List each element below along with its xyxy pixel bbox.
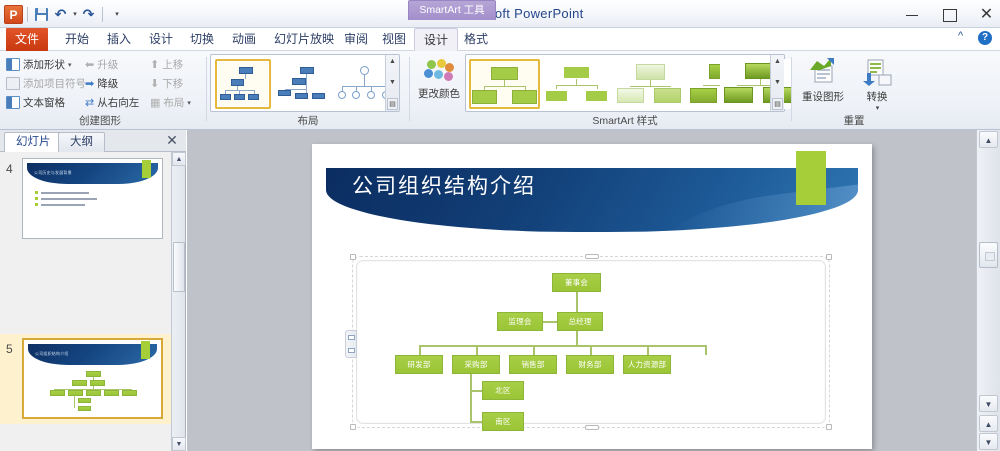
styles-scroll-up-icon[interactable]: ▲ [774, 56, 781, 68]
tab-smartart-format[interactable]: 格式 [455, 28, 497, 51]
thumbnail-banner: 公司组织结构介绍 [28, 344, 157, 365]
group-smartart-styles: 更改颜色 [413, 51, 788, 130]
close-panel-icon[interactable]: ✕ [164, 133, 180, 149]
change-colors-button[interactable]: 更改颜色 [413, 55, 465, 101]
cmd-move-up[interactable]: ⬆ 上移 [150, 57, 183, 72]
scrollbar-thumb[interactable] [979, 242, 998, 268]
gallery-scroll-up-icon[interactable]: ▲ [389, 56, 396, 68]
text-pane-arrow-icon-2 [348, 348, 355, 353]
slide-editing-area[interactable]: 公司组织结构介绍 董事会 监理会 总经理 [187, 130, 976, 451]
add-bullet-icon [6, 77, 20, 90]
previous-slide-button[interactable]: ▲ [979, 415, 998, 432]
orgchart-node-south[interactable]: 南区 [482, 412, 524, 431]
promote-icon: ⬅ [85, 58, 94, 71]
connector-gm-down [576, 331, 578, 345]
layout-thumb-circle-picture-hierarchy[interactable] [335, 59, 391, 109]
connector-supervisory [543, 321, 557, 323]
close-button[interactable]: ✕ [979, 7, 994, 22]
reset-graphic-icon [807, 57, 839, 87]
ribbon-help-area: ? [956, 31, 992, 45]
demote-icon: ➡ [85, 77, 94, 90]
tab-design[interactable]: 设计 [140, 28, 182, 51]
orgchart-node-hr[interactable]: 人力资源部 [623, 355, 671, 374]
cmd-layout[interactable]: ▦ 布局 ▾ [150, 95, 191, 110]
slide-accent-rectangle [796, 151, 826, 205]
orgchart-node-north[interactable]: 北区 [482, 381, 524, 400]
thumbnail-number: 5 [6, 342, 13, 356]
orgchart-node-supervisory[interactable]: 监理会 [497, 312, 543, 331]
group-create-graphic: 添加形状 ▾ 添加项目符号 文本窗格 ⬅ 升级 ➡ 降级 ⇄ 从右向左 [0, 51, 200, 130]
thumbnail-title: 公司历史与发展背景 [34, 170, 72, 176]
layouts-gallery[interactable]: ▲ ▼ ▤ [210, 54, 400, 112]
tab-smartart-design[interactable]: 设计 [414, 28, 458, 51]
current-slide[interactable]: 公司组织结构介绍 董事会 监理会 总经理 [312, 144, 872, 449]
cmd-right-to-left[interactable]: ⇄ 从右向左 [85, 95, 139, 110]
connector-purchasing-down [470, 374, 472, 422]
layout-thumb-name-and-title[interactable] [275, 59, 331, 109]
smartart-tools-banner: SmartArt 工具 [408, 0, 496, 20]
connector-drop-5 [647, 345, 649, 355]
orgchart-node-purchasing[interactable]: 采购部 [452, 355, 500, 374]
thumbnail-slide-5[interactable]: 公司组织结构介绍 [22, 338, 163, 419]
thumbnail-list[interactable]: 4 公司历史与发展背景 5 [0, 152, 172, 451]
text-pane-arrow-icon [348, 335, 355, 340]
thumbnail-banner: 公司历史与发展背景 [27, 163, 158, 184]
styles-scroll-down-icon[interactable]: ▼ [774, 77, 781, 89]
tab-review[interactable]: 审阅 [335, 28, 377, 51]
minimize-button[interactable] [905, 7, 920, 22]
tab-slides[interactable]: 幻灯片 [4, 132, 63, 152]
group-label-layouts: 布局 [210, 113, 406, 128]
slide-title-text[interactable]: 公司组织结构介绍 [352, 170, 536, 200]
help-icon[interactable]: ? [978, 31, 992, 45]
tab-view[interactable]: 视图 [373, 28, 415, 51]
styles-gallery-scrollbar[interactable]: ▲ ▼ ▤ [770, 55, 784, 111]
scroll-up-button[interactable]: ▲ [979, 131, 998, 148]
right-to-left-icon: ⇄ [85, 96, 94, 109]
powerpoint-window: P ↶ ▾ ↷ ▾ PPT - Microsoft PowerPoint ✕ S… [0, 0, 1000, 451]
thumbnail-accent-icon [142, 160, 151, 178]
ribbon: 添加形状 ▾ 添加项目符号 文本窗格 ⬅ 升级 ➡ 降级 ⇄ 从右向左 [0, 51, 1000, 130]
thumbnail-number: 4 [6, 162, 13, 176]
cmd-add-shape[interactable]: 添加形状 ▾ [6, 57, 72, 72]
convert-caret-icon[interactable]: ▾ [852, 104, 903, 112]
connector-drop-3 [533, 345, 535, 355]
cmd-text-pane[interactable]: 文本窗格 [6, 95, 65, 110]
reset-graphic-button[interactable]: 重设图形 [797, 55, 849, 104]
slide-thumbnail-panel: 幻灯片 大纲 ✕ 4 公司历史与发展背景 [0, 130, 186, 451]
resize-handle-nw[interactable] [350, 254, 356, 260]
styles-more-icon[interactable]: ▤ [772, 98, 783, 110]
convert-label: 转换 [851, 89, 903, 104]
gallery-more-icon[interactable]: ▤ [387, 98, 398, 110]
group-reset: 重设图形 转换 ▾ 重置 [795, 51, 913, 130]
style-thumb-white-outline[interactable] [542, 59, 613, 109]
thumbnail-accent-icon [141, 341, 150, 359]
cmd-demote[interactable]: ➡ 降级 [85, 76, 118, 91]
connector-board-down [576, 292, 578, 312]
thumbnail-item[interactable]: 4 公司历史与发展背景 [0, 154, 172, 244]
window-controls: ✕ [905, 0, 994, 28]
cmd-promote[interactable]: ⬅ 升级 [85, 57, 118, 72]
add-shape-caret-icon[interactable]: ▾ [68, 61, 72, 69]
maximize-button[interactable] [942, 7, 957, 22]
group-separator-2 [409, 57, 410, 121]
tab-outline[interactable]: 大纲 [58, 132, 105, 152]
scroll-down-button[interactable]: ▼ [979, 395, 998, 412]
thumbnail-bullets [35, 191, 97, 209]
panel-scroll-thumb[interactable] [173, 242, 185, 292]
cmd-add-bullet[interactable]: 添加项目符号 [6, 76, 86, 91]
orgchart-node-board[interactable]: 董事会 [552, 273, 601, 292]
text-pane-icon [6, 96, 20, 109]
text-pane-toggle[interactable] [345, 330, 357, 358]
group-label-create-graphic: 创建图形 [0, 113, 200, 128]
tab-animations[interactable]: 动画 [223, 28, 265, 51]
layouts-gallery-scrollbar[interactable]: ▲ ▼ ▤ [385, 55, 399, 111]
thumbnail-item-selected[interactable]: 5 公司组织结构介绍 [0, 334, 172, 424]
cmd-move-down[interactable]: ⬇ 下移 [150, 76, 183, 91]
tab-transitions[interactable]: 切换 [181, 28, 223, 51]
orgchart-node-finance[interactable]: 财务部 [566, 355, 614, 374]
thumbnail-slide-4[interactable]: 公司历史与发展背景 [22, 158, 163, 239]
tab-insert[interactable]: 插入 [98, 28, 140, 51]
orgchart-node-rnd[interactable]: 研发部 [395, 355, 443, 374]
smartart-styles-gallery[interactable]: ▲ ▼ ▤ [465, 54, 785, 112]
resize-handle-sw[interactable] [350, 424, 356, 430]
group-label-smartart-styles: SmartArt 样式 [465, 113, 785, 128]
group-layouts: ▲ ▼ ▤ 布局 [210, 51, 406, 130]
connector-north [470, 390, 482, 392]
connector-drop-4 [590, 345, 592, 355]
panel-scrollbar[interactable]: ▲ ▼ [171, 152, 185, 451]
tab-home[interactable]: 开始 [56, 28, 98, 51]
connector-south [470, 421, 482, 423]
group-separator-1 [206, 57, 207, 121]
change-colors-icon [424, 59, 454, 85]
resize-handle-ne[interactable] [826, 254, 832, 260]
thumbnail-title: 公司组织结构介绍 [35, 351, 69, 357]
layout-icon: ▦ [150, 96, 160, 109]
change-colors-label: 更改颜色 [413, 86, 465, 101]
tab-file[interactable]: 文件 [6, 28, 48, 51]
ribbon-tab-strip: 文件 开始 插入 设计 切换 动画 幻灯片放映 审阅 视图 设计 格式 [0, 28, 1000, 51]
connector-drop-1 [419, 345, 421, 355]
group-label-reset: 重置 [795, 113, 913, 128]
layout-thumb-organization-chart[interactable] [215, 59, 271, 109]
resize-handle-se[interactable] [826, 424, 832, 430]
reset-graphic-label: 重设图形 [797, 89, 849, 104]
layout-caret-icon[interactable]: ▾ [187, 99, 191, 107]
tab-slideshow[interactable]: 幻灯片放映 [265, 28, 343, 51]
panel-tab-strip: 幻灯片 大纲 ✕ [0, 130, 186, 152]
gallery-scroll-down-icon[interactable]: ▼ [389, 77, 396, 89]
orgchart-node-general-manager[interactable]: 总经理 [557, 312, 603, 331]
window-title: PPT - Microsoft PowerPoint [0, 0, 1000, 28]
title-bar: P ↶ ▾ ↷ ▾ PPT - Microsoft PowerPoint ✕ [0, 0, 1000, 28]
add-shape-icon [6, 58, 20, 71]
convert-button[interactable]: 转换 ▾ [851, 55, 903, 112]
orgchart-node-sales[interactable]: 销售部 [509, 355, 557, 374]
group-separator-3 [791, 57, 792, 121]
connector-horizontal-bus [419, 345, 707, 347]
panel-scroll-up-icon[interactable]: ▲ [172, 152, 186, 166]
next-slide-button[interactable]: ▼ [979, 433, 998, 450]
convert-icon [861, 57, 893, 87]
style-thumb-subtle-effect[interactable] [615, 59, 686, 109]
vertical-scrollbar[interactable]: ▲ ▼ ▲ ▼ [976, 130, 1000, 451]
smartart-graphic[interactable]: 董事会 监理会 总经理 研发部 采购部 销售部 财务部 人力资源部 [356, 260, 826, 424]
connector-drop-6 [705, 345, 707, 355]
resize-handle-s[interactable] [585, 425, 599, 430]
move-up-icon: ⬆ [150, 58, 159, 71]
resize-handle-n[interactable] [585, 254, 599, 259]
move-down-icon: ⬇ [150, 77, 159, 90]
connector-drop-2 [476, 345, 478, 355]
collapse-ribbon-icon[interactable] [956, 32, 968, 44]
panel-scroll-down-icon[interactable]: ▼ [172, 437, 186, 451]
style-thumb-simple-fill[interactable] [469, 59, 540, 109]
